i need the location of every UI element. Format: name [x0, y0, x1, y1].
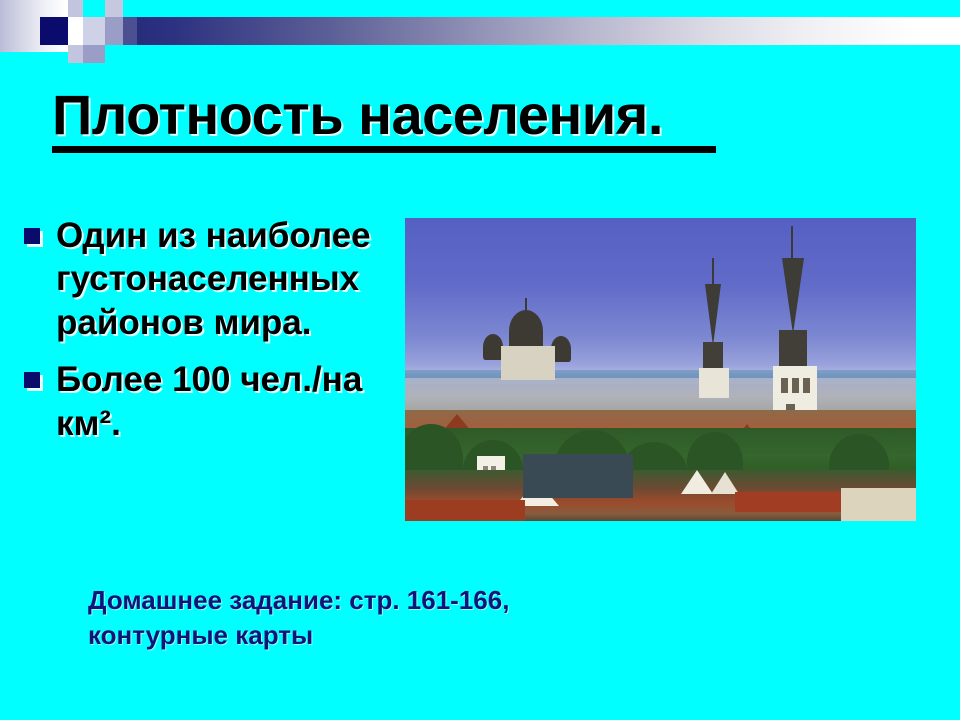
decor-tile-e: [83, 17, 105, 45]
list-item-label: Один из наиболее густонаселенных районов…: [56, 214, 410, 344]
photo-spire-cone-second: [705, 284, 721, 346]
photo-sky: [405, 218, 916, 378]
photo-cathedral-wall: [501, 346, 555, 380]
square-bullet-icon: [24, 372, 40, 388]
photo-foreground-roof-right: [735, 492, 855, 512]
photo-gable-2: [711, 472, 739, 494]
photo-tower-window-1: [781, 378, 788, 393]
decor-navy-square: [40, 17, 68, 45]
photo-dome-cross: [525, 298, 527, 314]
cityscape-photo: [405, 218, 916, 521]
page-title: Плотность населения.: [52, 86, 752, 145]
photo-tower-window-2: [792, 378, 799, 393]
decor-tile-d: [68, 45, 83, 63]
list-item-label: Более 100 чел./на км².: [56, 358, 410, 445]
photo-dark-roof-block: [523, 454, 633, 498]
photo-foreground-building: [841, 488, 916, 521]
decor-tile-a: [68, 0, 83, 17]
photo-spire-body-tall: [779, 330, 807, 370]
bullet-list: Один из наиболее густонаселенных районов…: [18, 214, 410, 459]
homework-note: Домашнее задание: стр. 161-166, контурны…: [88, 583, 748, 653]
photo-tower-window-3: [803, 378, 810, 393]
list-item: Более 100 чел./на км².: [18, 358, 410, 445]
decor-tile-g: [83, 45, 105, 63]
photo-second-tower-wall: [699, 368, 729, 398]
square-bullet-icon: [24, 228, 40, 244]
decor-tile-b: [83, 0, 105, 17]
decor-tile-h: [123, 17, 137, 45]
homework-line-1: Домашнее задание: стр. 161-166,: [88, 583, 748, 618]
title-underline: [52, 146, 716, 153]
homework-line-2: контурные карты: [88, 618, 748, 653]
photo-spire-cone-tall: [782, 258, 804, 334]
photo-foreground-roof-left: [405, 500, 525, 521]
decor-tile-c: [105, 0, 123, 17]
header-gradient-band: [83, 17, 960, 45]
presentation-slide: Плотность населения. Один из наиболее гу…: [0, 0, 960, 720]
decor-tile-f: [105, 17, 123, 45]
list-item: Один из наиболее густонаселенных районов…: [18, 214, 410, 344]
photo-dome-left: [483, 334, 503, 360]
photo-gable-1: [681, 470, 713, 494]
